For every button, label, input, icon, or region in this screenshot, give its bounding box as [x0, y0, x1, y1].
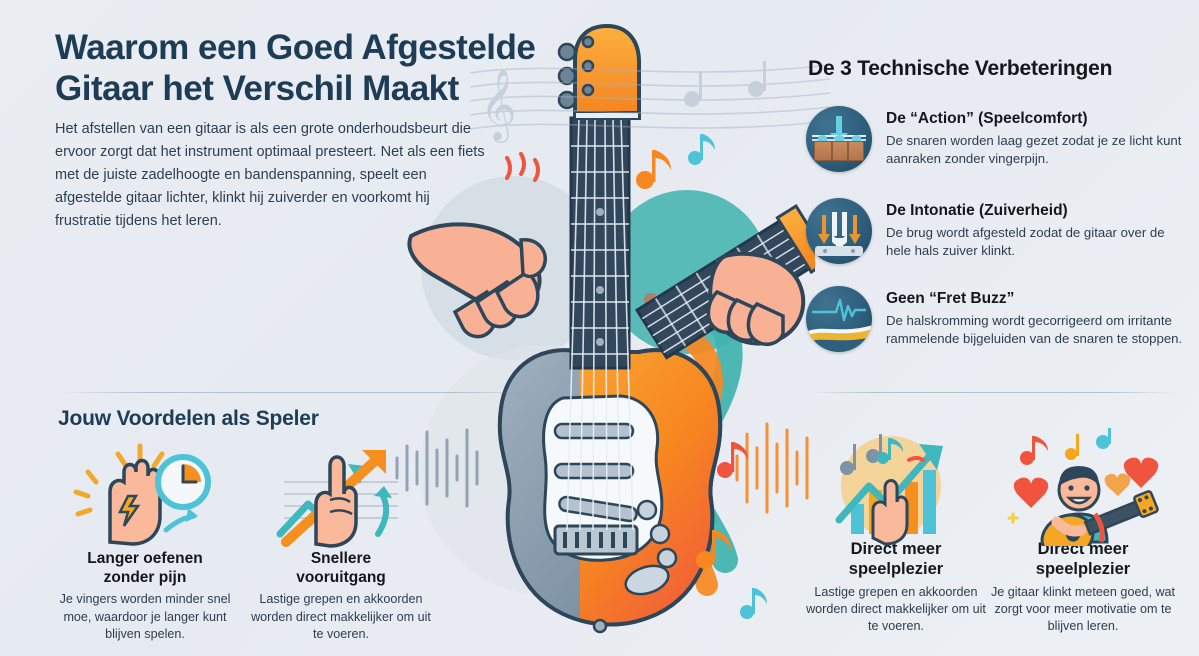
intro-paragraph: Het afstellen van een gitaar is als een … — [55, 118, 485, 233]
technical-item-title: De Intonatie (Zuiverheid) — [886, 202, 1191, 221]
hand-lightning-clock-icon — [52, 438, 238, 550]
benefit-card-desc: Je vingers worden minder snel moe, waard… — [52, 591, 238, 643]
technical-item-action: De “Action” (Speelcomfort) De snaren wor… — [806, 106, 1191, 172]
technical-section-heading: De 3 Technische Verbeteringen — [808, 57, 1178, 81]
divider-left — [58, 392, 538, 393]
technical-item-title: De “Action” (Speelcomfort) — [886, 110, 1191, 129]
technical-item-intonation: De Intonatie (Zuiverheid) De brug wordt … — [806, 198, 1191, 264]
technical-item-desc: De halskromming wordt gecorrigeerd om ir… — [886, 312, 1191, 349]
tuning-fork-icon — [806, 198, 872, 264]
page-title-line2: Gitaar het Verschil Maakt — [55, 69, 575, 110]
benefits-section-heading: Jouw Voordelen als Speler — [58, 407, 478, 431]
technical-item-desc: De brug wordt afgesteld zodat de gitaar … — [886, 224, 1191, 261]
technical-item-title: Geen “Fret Buzz” — [886, 290, 1191, 309]
benefit-card-faster-progress: Snellere vooruitgang Lastige grepen en a… — [248, 438, 434, 643]
benefit-card-more-fun-player: Direct meer speelplezier Je gitaar klink… — [990, 428, 1176, 636]
bar-chart-hand-icon — [803, 428, 989, 540]
waveform-buzz-icon — [806, 286, 872, 352]
benefit-card-longer-practice: Langer oefenen zonder pijn Je vingers wo… — [52, 438, 238, 643]
waveform-glyph — [806, 286, 872, 352]
divider-right — [806, 392, 1176, 393]
page-title: Waarom een Goed Afgestelde Gitaar het Ve… — [55, 28, 575, 110]
benefit-card-title: Langer oefenen zonder pijn — [52, 550, 238, 587]
happy-guitarist-icon — [990, 428, 1176, 540]
technical-item-desc: De snaren worden laag gezet zodat je ze … — [886, 132, 1191, 169]
benefit-card-desc: Lastige grepen en akkoorden worden direc… — [248, 591, 434, 643]
page-title-line1: Waarom een Goed Afgestelde — [55, 28, 575, 69]
string-action-icon — [806, 106, 872, 172]
pointing-hand-rising-arrow-icon — [248, 438, 434, 550]
infographic-canvas: 𝄞 Waarom een Goed Afgestelde Gitaar het … — [0, 0, 1199, 656]
benefit-card-desc: Lastige grepen en akkoorden worden direc… — [803, 584, 989, 636]
tuning-fork-glyph — [806, 198, 872, 264]
technical-item-fretbuzz: Geen “Fret Buzz” De halskromming wordt g… — [806, 286, 1191, 352]
benefit-card-desc: Je gitaar klinkt meteen goed, wat zorgt … — [990, 584, 1176, 636]
benefit-card-more-fun-chart: Direct meer speelplezier Lastige grepen … — [803, 428, 989, 636]
benefit-card-title: Snellere vooruitgang — [248, 550, 434, 587]
